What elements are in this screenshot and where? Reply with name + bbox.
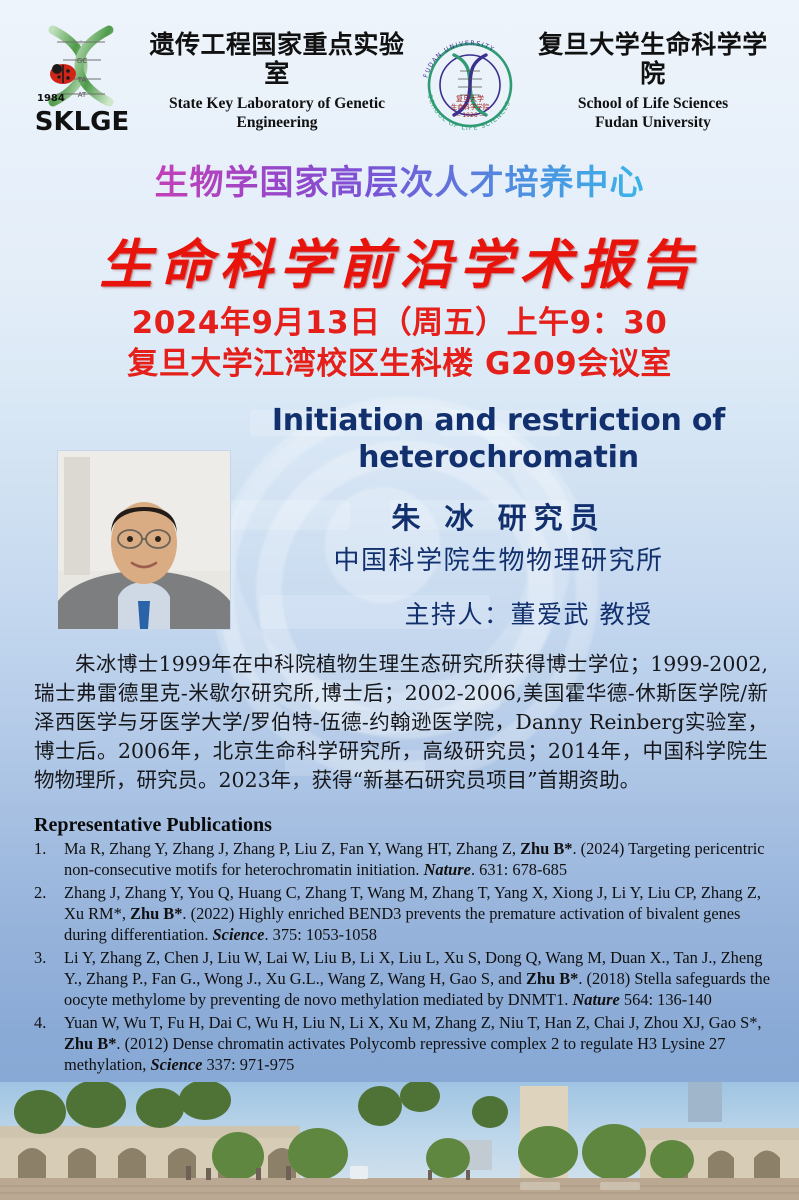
event-date-line: 2024年9月13日（周五）上午9：30 bbox=[0, 297, 799, 342]
publication-journal: Science bbox=[151, 1055, 203, 1074]
publication-item: 4. Yuan W, Wu T, Fu H, Dai C, Wu H, Liu … bbox=[34, 1012, 776, 1076]
poster-header: ☆ GC TA AT 1984 SKLGE 遗传工程国家重点实验室 State … bbox=[0, 18, 799, 146]
fudan-name-en-line1: School of Life Sciences bbox=[530, 94, 777, 113]
publication-citation: 564: 136-140 bbox=[620, 990, 712, 1009]
publication-item: 3. Li Y, Zhang Z, Chen J, Liu W, Lai W, … bbox=[34, 947, 776, 1011]
fudan-logo: FUDAN UNIVERSITY SCHOOL OF LIFE SCIENCES… bbox=[414, 23, 526, 141]
svg-text:1984: 1984 bbox=[37, 93, 65, 104]
publication-item: 2. Zhang J, Zhang Y, You Q, Huang C, Zha… bbox=[34, 882, 776, 946]
publication-corresponding-author: Zhu B* bbox=[130, 904, 182, 923]
svg-text:复旦大学: 复旦大学 bbox=[456, 94, 484, 103]
fudan-name-cn: 复旦大学生命科学学院 bbox=[530, 31, 777, 89]
svg-text:GC: GC bbox=[76, 57, 86, 65]
talk-title: Initiation and restriction of heterochro… bbox=[246, 403, 751, 476]
publication-text: Ma R, Zhang Y, Zhang J, Zhang P, Liu Z, … bbox=[64, 838, 776, 881]
publication-authors: Ma R, Zhang Y, Zhang J, Zhang P, Liu Z, … bbox=[64, 839, 520, 858]
publication-item: 1. Ma R, Zhang Y, Zhang J, Zhang P, Liu … bbox=[34, 838, 776, 881]
series-main-title: 生命科学前沿学术报告 bbox=[0, 223, 799, 299]
publication-authors: Yuan W, Wu T, Fu H, Dai C, Wu H, Liu N, … bbox=[64, 1013, 762, 1032]
publications-heading: Representative Publications bbox=[34, 814, 272, 837]
publication-number: 1. bbox=[34, 838, 64, 881]
sklge-name-en: State Key Laboratory of Genetic Engineer… bbox=[145, 94, 410, 133]
fudan-name-en: School of Life Sciences Fudan University bbox=[530, 94, 777, 133]
svg-text:SKLGE: SKLGE bbox=[34, 107, 129, 137]
fudan-title-block: 复旦大学生命科学学院 School of Life Sciences Fudan… bbox=[530, 31, 777, 132]
campus-photo bbox=[0, 1082, 799, 1200]
publication-journal: Nature bbox=[424, 860, 471, 879]
publication-corresponding-author: Zhu B* bbox=[520, 839, 572, 858]
publications-list: 1. Ma R, Zhang Y, Zhang J, Zhang P, Liu … bbox=[34, 838, 776, 1077]
speaker-affiliation: 中国科学院生物物理研究所 bbox=[246, 540, 751, 577]
publication-text: Yuan W, Wu T, Fu H, Dai C, Wu H, Liu N, … bbox=[64, 1012, 776, 1076]
fudan-name-en-line2: Fudan University bbox=[530, 113, 777, 132]
publication-citation: 337: 971-975 bbox=[202, 1055, 294, 1074]
sklge-name-en-line2: Engineering bbox=[145, 113, 410, 132]
sklge-logo: ☆ GC TA AT 1984 SKLGE bbox=[23, 22, 141, 142]
publication-text: Li Y, Zhang Z, Chen J, Liu W, Lai W, Liu… bbox=[64, 947, 776, 1011]
publication-number: 2. bbox=[34, 882, 64, 946]
publication-number: 3. bbox=[34, 947, 64, 1011]
sklge-name-en-line1: State Key Laboratory of Genetic bbox=[145, 94, 410, 113]
publication-corresponding-author: Zhu B* bbox=[64, 1034, 116, 1053]
seminar-poster: ☆ GC TA AT 1984 SKLGE 遗传工程国家重点实验室 State … bbox=[0, 0, 799, 1200]
event-venue-line: 复旦大学江湾校区生科楼 G209会议室 bbox=[0, 338, 799, 383]
publication-citation: . 631: 678-685 bbox=[471, 860, 567, 879]
publication-journal: Science bbox=[213, 925, 265, 944]
publication-text: Zhang J, Zhang Y, You Q, Huang C, Zhang … bbox=[64, 882, 776, 946]
sklge-name-cn: 遗传工程国家重点实验室 bbox=[145, 31, 410, 89]
talk-title-line1: Initiation and restriction of bbox=[246, 403, 751, 440]
publication-citation: . 375: 1053-1058 bbox=[264, 925, 376, 944]
sklge-title-block: 遗传工程国家重点实验室 State Key Laboratory of Gene… bbox=[145, 31, 410, 132]
program-subtitle: 生物学国家高层次人才培养中心 bbox=[0, 155, 799, 204]
svg-text:生命科学学院: 生命科学学院 bbox=[450, 102, 489, 111]
svg-text:☆: ☆ bbox=[77, 39, 83, 47]
svg-text:TA: TA bbox=[76, 76, 86, 84]
publication-number: 4. bbox=[34, 1012, 64, 1076]
speaker-name: 朱 冰 研究员 bbox=[246, 495, 751, 537]
talk-title-line2: heterochromatin bbox=[246, 440, 751, 477]
host-line: 主持人：董爱武 教授 bbox=[276, 595, 781, 631]
svg-text:— 1926 —: — 1926 — bbox=[454, 112, 485, 119]
svg-text:AT: AT bbox=[77, 91, 86, 99]
publication-journal: Nature bbox=[572, 990, 619, 1009]
publication-corresponding-author: Zhu B* bbox=[526, 969, 578, 988]
speaker-biography: 朱冰博士1999年在中科院植物生理生态研究所获得博士学位；1999-2002,瑞… bbox=[34, 650, 768, 796]
speaker-portrait bbox=[57, 450, 231, 630]
